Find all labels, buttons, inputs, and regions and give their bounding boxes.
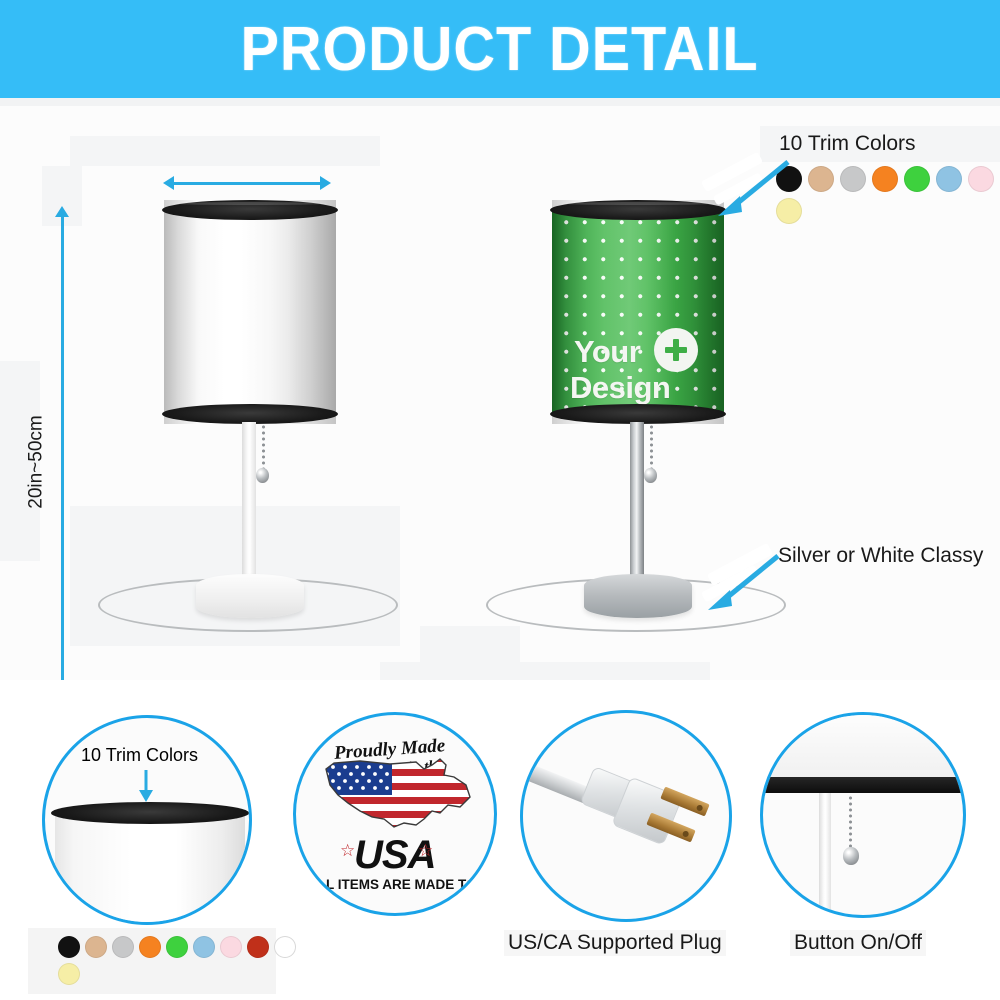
product-detail-page: PRODUCT DETAIL 7in~18cm 20in~50cm xyxy=(0,0,1000,1000)
banner-divider xyxy=(0,98,1000,106)
pull-chain[interactable] xyxy=(262,424,265,472)
trim-color-swatch-pink[interactable] xyxy=(968,166,994,192)
lamp-white xyxy=(160,200,340,650)
trim-color-swatch-light-blue[interactable] xyxy=(936,166,962,192)
trim-color-swatch-white[interactable] xyxy=(274,936,296,958)
shade-trim-bottom xyxy=(162,404,338,424)
trim-colors-pointer-arrow xyxy=(706,154,796,222)
your-design-line1: Your xyxy=(574,336,640,367)
star-icon-right: ☆ xyxy=(418,841,433,861)
trim-colors-swatch-grid xyxy=(28,928,276,994)
shade-trim-bottom xyxy=(550,404,726,424)
trim-color-swatch-tan[interactable] xyxy=(808,166,834,192)
trim-color-swatch-light-blue[interactable] xyxy=(193,936,215,958)
feature-switch-caption: Button On/Off xyxy=(790,930,926,956)
trim-color-swatch-gray[interactable] xyxy=(112,936,134,958)
pull-chain[interactable] xyxy=(849,795,852,853)
usa-flag-map-icon: Proudly Made in the xyxy=(296,715,494,913)
pull-chain[interactable] xyxy=(650,424,653,472)
pull-chain-ball[interactable] xyxy=(256,468,269,483)
feature-plug-caption: US/CA Supported Plug xyxy=(504,930,726,956)
base-finish-label: Silver or White Classy xyxy=(778,544,983,568)
trim-color-swatch-gray[interactable] xyxy=(840,166,866,192)
trim-color-swatch-pale-yellow[interactable] xyxy=(58,963,80,985)
pull-chain-ball[interactable] xyxy=(843,847,859,865)
page-banner: PRODUCT DETAIL xyxy=(0,0,1000,98)
trim-color-swatch-green[interactable] xyxy=(904,166,930,192)
width-dimension-arrow xyxy=(163,176,331,190)
trim-color-swatch-pink[interactable] xyxy=(220,936,242,958)
pull-chain-ball[interactable] xyxy=(644,468,657,483)
shade-trim-top xyxy=(51,802,249,824)
shade-surface xyxy=(760,712,966,785)
trim-color-swatch-green[interactable] xyxy=(166,936,188,958)
lamp-base xyxy=(584,574,692,618)
trim-color-swatch-tan[interactable] xyxy=(85,936,107,958)
shade-surface xyxy=(55,813,245,925)
shade-trim-top xyxy=(162,200,338,220)
pull-chain-switch-icon xyxy=(763,715,963,915)
lamp-pole xyxy=(819,793,831,917)
trim-colors-swatches xyxy=(770,162,1000,234)
plus-circle-icon xyxy=(654,328,698,372)
trim-colors-label: 10 Trim Colors xyxy=(779,132,916,156)
lamp-base xyxy=(196,574,304,618)
trim-color-swatch-black[interactable] xyxy=(58,936,80,958)
trim-color-swatch-orange[interactable] xyxy=(139,936,161,958)
power-plug-icon xyxy=(523,713,729,919)
lamp-shade-white xyxy=(164,200,336,424)
star-icon-left: ☆ xyxy=(340,841,355,861)
lamp-shade-green: Your Design xyxy=(552,200,724,424)
your-design-line2: Design xyxy=(570,372,670,403)
page-title: PRODUCT DETAIL xyxy=(241,14,759,85)
height-dimension-arrow xyxy=(55,206,69,726)
trim-color-swatch-orange[interactable] xyxy=(872,166,898,192)
feature-made-in-usa[interactable]: Proudly Made in the xyxy=(293,712,497,916)
us-map-shape xyxy=(320,755,476,833)
feature-row: 10 Trim Colors Proudly Made in the xyxy=(0,680,1000,1000)
feature-trim-colors[interactable]: 10 Trim Colors xyxy=(42,715,252,925)
bg-tint xyxy=(70,136,380,166)
main-product-showcase: 7in~18cm 20in~50cm xyxy=(0,106,1000,680)
feature-plug[interactable] xyxy=(520,710,732,922)
shade-surface xyxy=(164,209,336,415)
feature-switch[interactable] xyxy=(760,712,966,918)
trim-color-swatch-dark-red[interactable] xyxy=(247,936,269,958)
height-dimension-label: 20in~50cm xyxy=(26,415,48,508)
shade-trim-bottom xyxy=(760,777,966,793)
down-arrow-icon xyxy=(137,770,155,804)
feature-trim-colors-label: 10 Trim Colors xyxy=(81,745,198,766)
usa-badge-subtitle: ALL ITEMS ARE MADE TO ORDER! xyxy=(308,877,497,892)
base-finish-pointer-arrow xyxy=(694,546,786,616)
shade-trim-top xyxy=(550,200,726,220)
